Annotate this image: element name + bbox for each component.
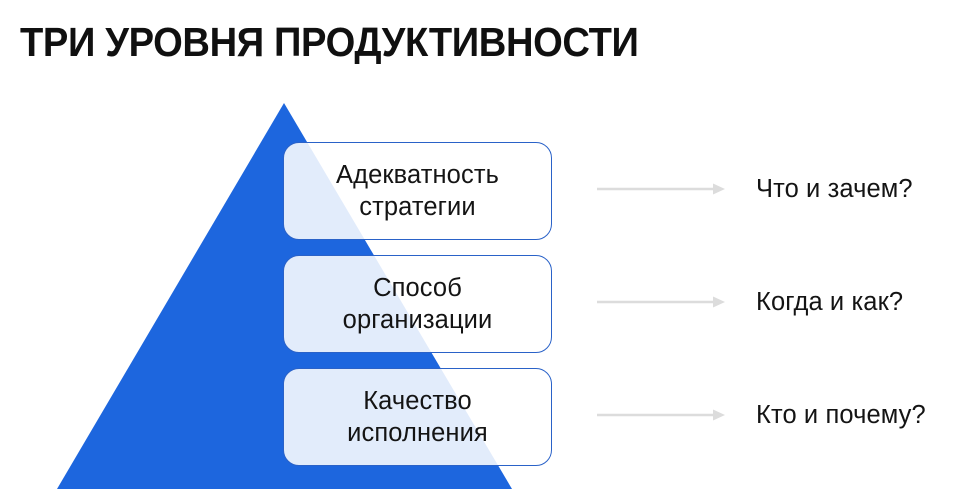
level-box-line-1: Качество bbox=[363, 385, 472, 417]
question-row-organization: Когда и как? bbox=[597, 285, 937, 319]
level-box-execution[interactable]: Качество исполнения bbox=[283, 368, 552, 466]
slide-canvas: ТРИ УРОВНЯ ПРОДУКТИВНОСТИ Адекватность с… bbox=[0, 0, 957, 504]
level-box-organization[interactable]: Способ организации bbox=[283, 255, 552, 353]
level-box-line-1: Способ bbox=[373, 272, 462, 304]
arrow-right-icon bbox=[597, 408, 725, 422]
level-box-line-2: исполнения bbox=[347, 417, 488, 449]
question-row-strategy: Что и зачем? bbox=[597, 172, 937, 206]
level-box-line-2: организации bbox=[343, 304, 493, 336]
arrow-right-icon bbox=[597, 182, 725, 196]
question-row-execution: Кто и почему? bbox=[597, 398, 937, 432]
arrow-right-icon bbox=[597, 295, 725, 309]
question-label: Когда и как? bbox=[756, 288, 903, 317]
level-box-line-1: Адекватность bbox=[336, 159, 499, 191]
level-box-line-2: стратегии bbox=[359, 191, 476, 223]
question-label: Кто и почему? bbox=[756, 401, 926, 430]
question-label: Что и зачем? bbox=[756, 175, 913, 204]
level-box-strategy[interactable]: Адекватность стратегии bbox=[283, 142, 552, 240]
